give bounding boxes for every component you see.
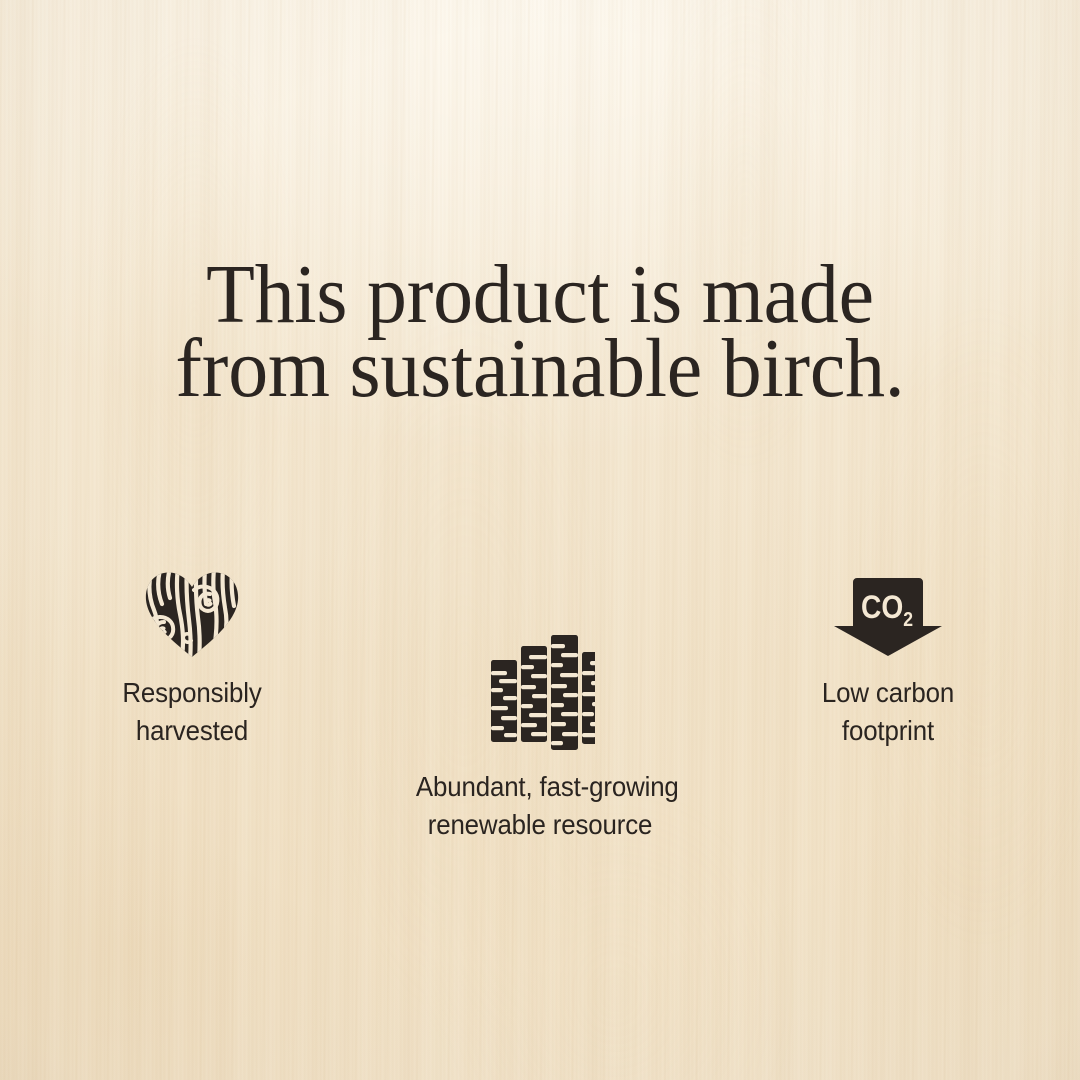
feature-renewable-resource: Abundant, fast-growing renewable resourc… — [408, 632, 672, 844]
icon-slot: CO2 — [756, 558, 1020, 658]
feature-caption: Low carbon footprint — [764, 674, 1012, 750]
icon-slot — [408, 632, 672, 750]
birch-trunk-3 — [551, 635, 578, 750]
icon-slot — [60, 558, 324, 658]
birch-trunks-icon — [485, 632, 595, 750]
birch-trunk-1 — [491, 660, 517, 742]
caption-line-1: Responsibly — [68, 674, 316, 712]
caption-block: Low carbon footprint — [756, 674, 1020, 750]
wood-grain-heart-icon — [144, 570, 240, 658]
caption-line-2: footprint — [764, 712, 1012, 750]
headline-line-2: from sustainable birch. — [27, 332, 1053, 406]
co2-down-arrow-icon: CO2 — [832, 576, 944, 658]
feature-row: Responsibly harvested — [0, 540, 1080, 870]
caption-block: Responsibly harvested — [60, 674, 324, 750]
feature-low-carbon-footprint: CO2 Low carbon footprint — [756, 558, 1020, 750]
birch-trunk-4 — [582, 652, 595, 744]
caption-block: Abundant, fast-growing renewable resourc… — [408, 768, 672, 844]
caption-line-1: Abundant, fast-growing — [416, 768, 664, 806]
headline-line-1: This product is made — [27, 258, 1053, 332]
caption-line-2: renewable resource — [416, 806, 664, 844]
birch-trunk-2 — [521, 646, 547, 742]
feature-caption: Abundant, fast-growing renewable resourc… — [416, 768, 664, 844]
headline: This product is made from sustainable bi… — [27, 258, 1053, 406]
caption-line-2: harvested — [68, 712, 316, 750]
feature-caption: Responsibly harvested — [68, 674, 316, 750]
sustainability-badge-graphic: This product is made from sustainable bi… — [0, 0, 1080, 1080]
caption-line-1: Low carbon — [764, 674, 1012, 712]
feature-responsibly-harvested: Responsibly harvested — [60, 558, 324, 750]
